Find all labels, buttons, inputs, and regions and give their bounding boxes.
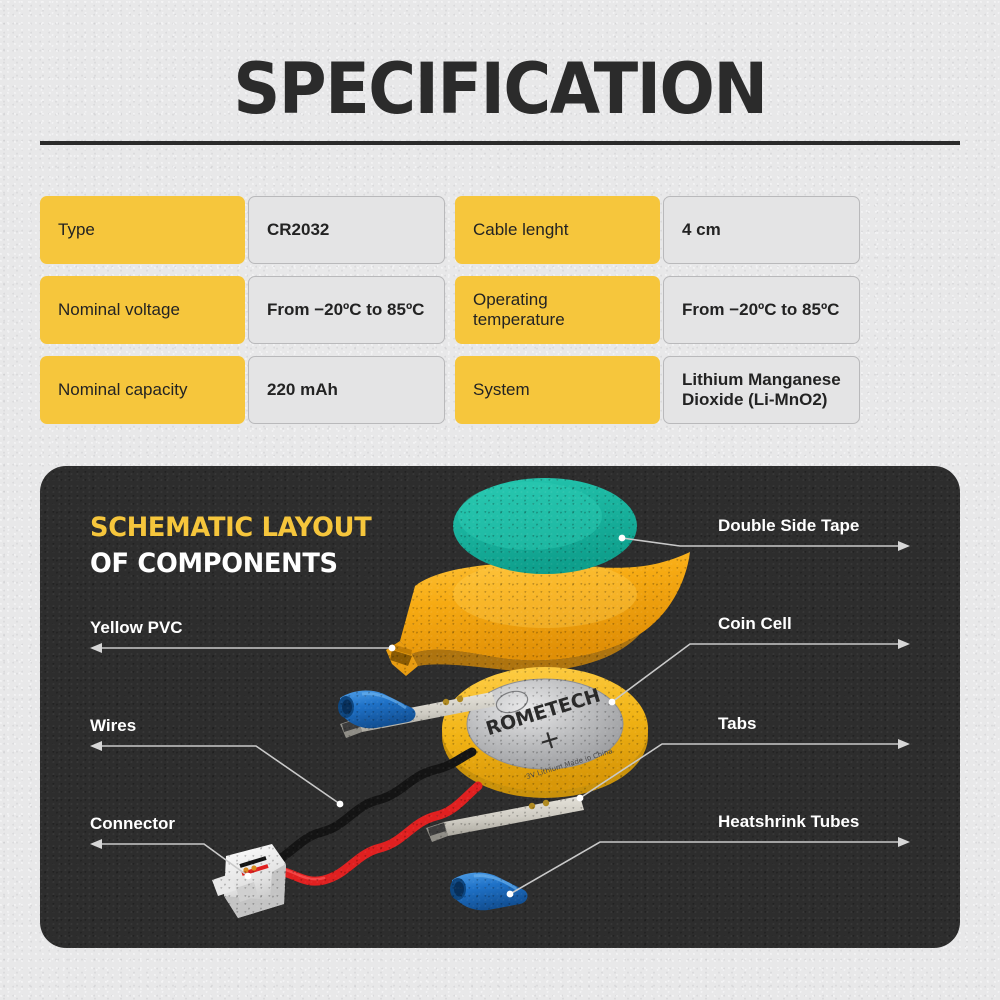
spec-value-nominal-voltage: From −20ºC to 85ºC bbox=[248, 276, 445, 344]
page-title: SPECIFICATION bbox=[35, 48, 965, 130]
spec-value-operating-temperature: From −20ºC to 85ºC bbox=[663, 276, 860, 344]
callout-double-side-tape: Double Side Tape bbox=[718, 516, 859, 536]
title-divider bbox=[40, 141, 960, 145]
spec-label-operating-temperature: Operating temperature bbox=[455, 276, 660, 344]
callout-tabs: Tabs bbox=[718, 714, 756, 734]
callout-yellow-pvc: Yellow PVC bbox=[90, 618, 183, 638]
spec-value-nominal-capacity: 220 mAh bbox=[248, 356, 445, 424]
callout-coin-cell: Coin Cell bbox=[718, 614, 792, 634]
schematic-layout-panel: ROMETECH + 3V Lithium Made in China bbox=[40, 466, 960, 948]
spec-value-type: CR2032 bbox=[248, 196, 445, 264]
column-gap bbox=[445, 356, 455, 424]
callout-leader-lines bbox=[40, 466, 960, 948]
callout-connector: Connector bbox=[90, 814, 175, 834]
spec-label-nominal-voltage: Nominal voltage bbox=[40, 276, 245, 344]
spec-label-type: Type bbox=[40, 196, 245, 264]
spec-label-system: System bbox=[455, 356, 660, 424]
spec-value-system: Lithium Manganese Dioxide (Li-MnO2) bbox=[663, 356, 860, 424]
spec-label-nominal-capacity: Nominal capacity bbox=[40, 356, 245, 424]
callout-wires: Wires bbox=[90, 716, 136, 736]
spec-value-cable-lenght: 4 cm bbox=[663, 196, 860, 264]
column-gap bbox=[445, 276, 455, 344]
specification-table: Type CR2032 Cable lenght 4 cm Nominal vo… bbox=[40, 196, 960, 424]
spec-label-cable-lenght: Cable lenght bbox=[455, 196, 660, 264]
column-gap bbox=[445, 196, 455, 264]
callout-heatshrink-tubes: Heatshrink Tubes bbox=[718, 812, 859, 832]
